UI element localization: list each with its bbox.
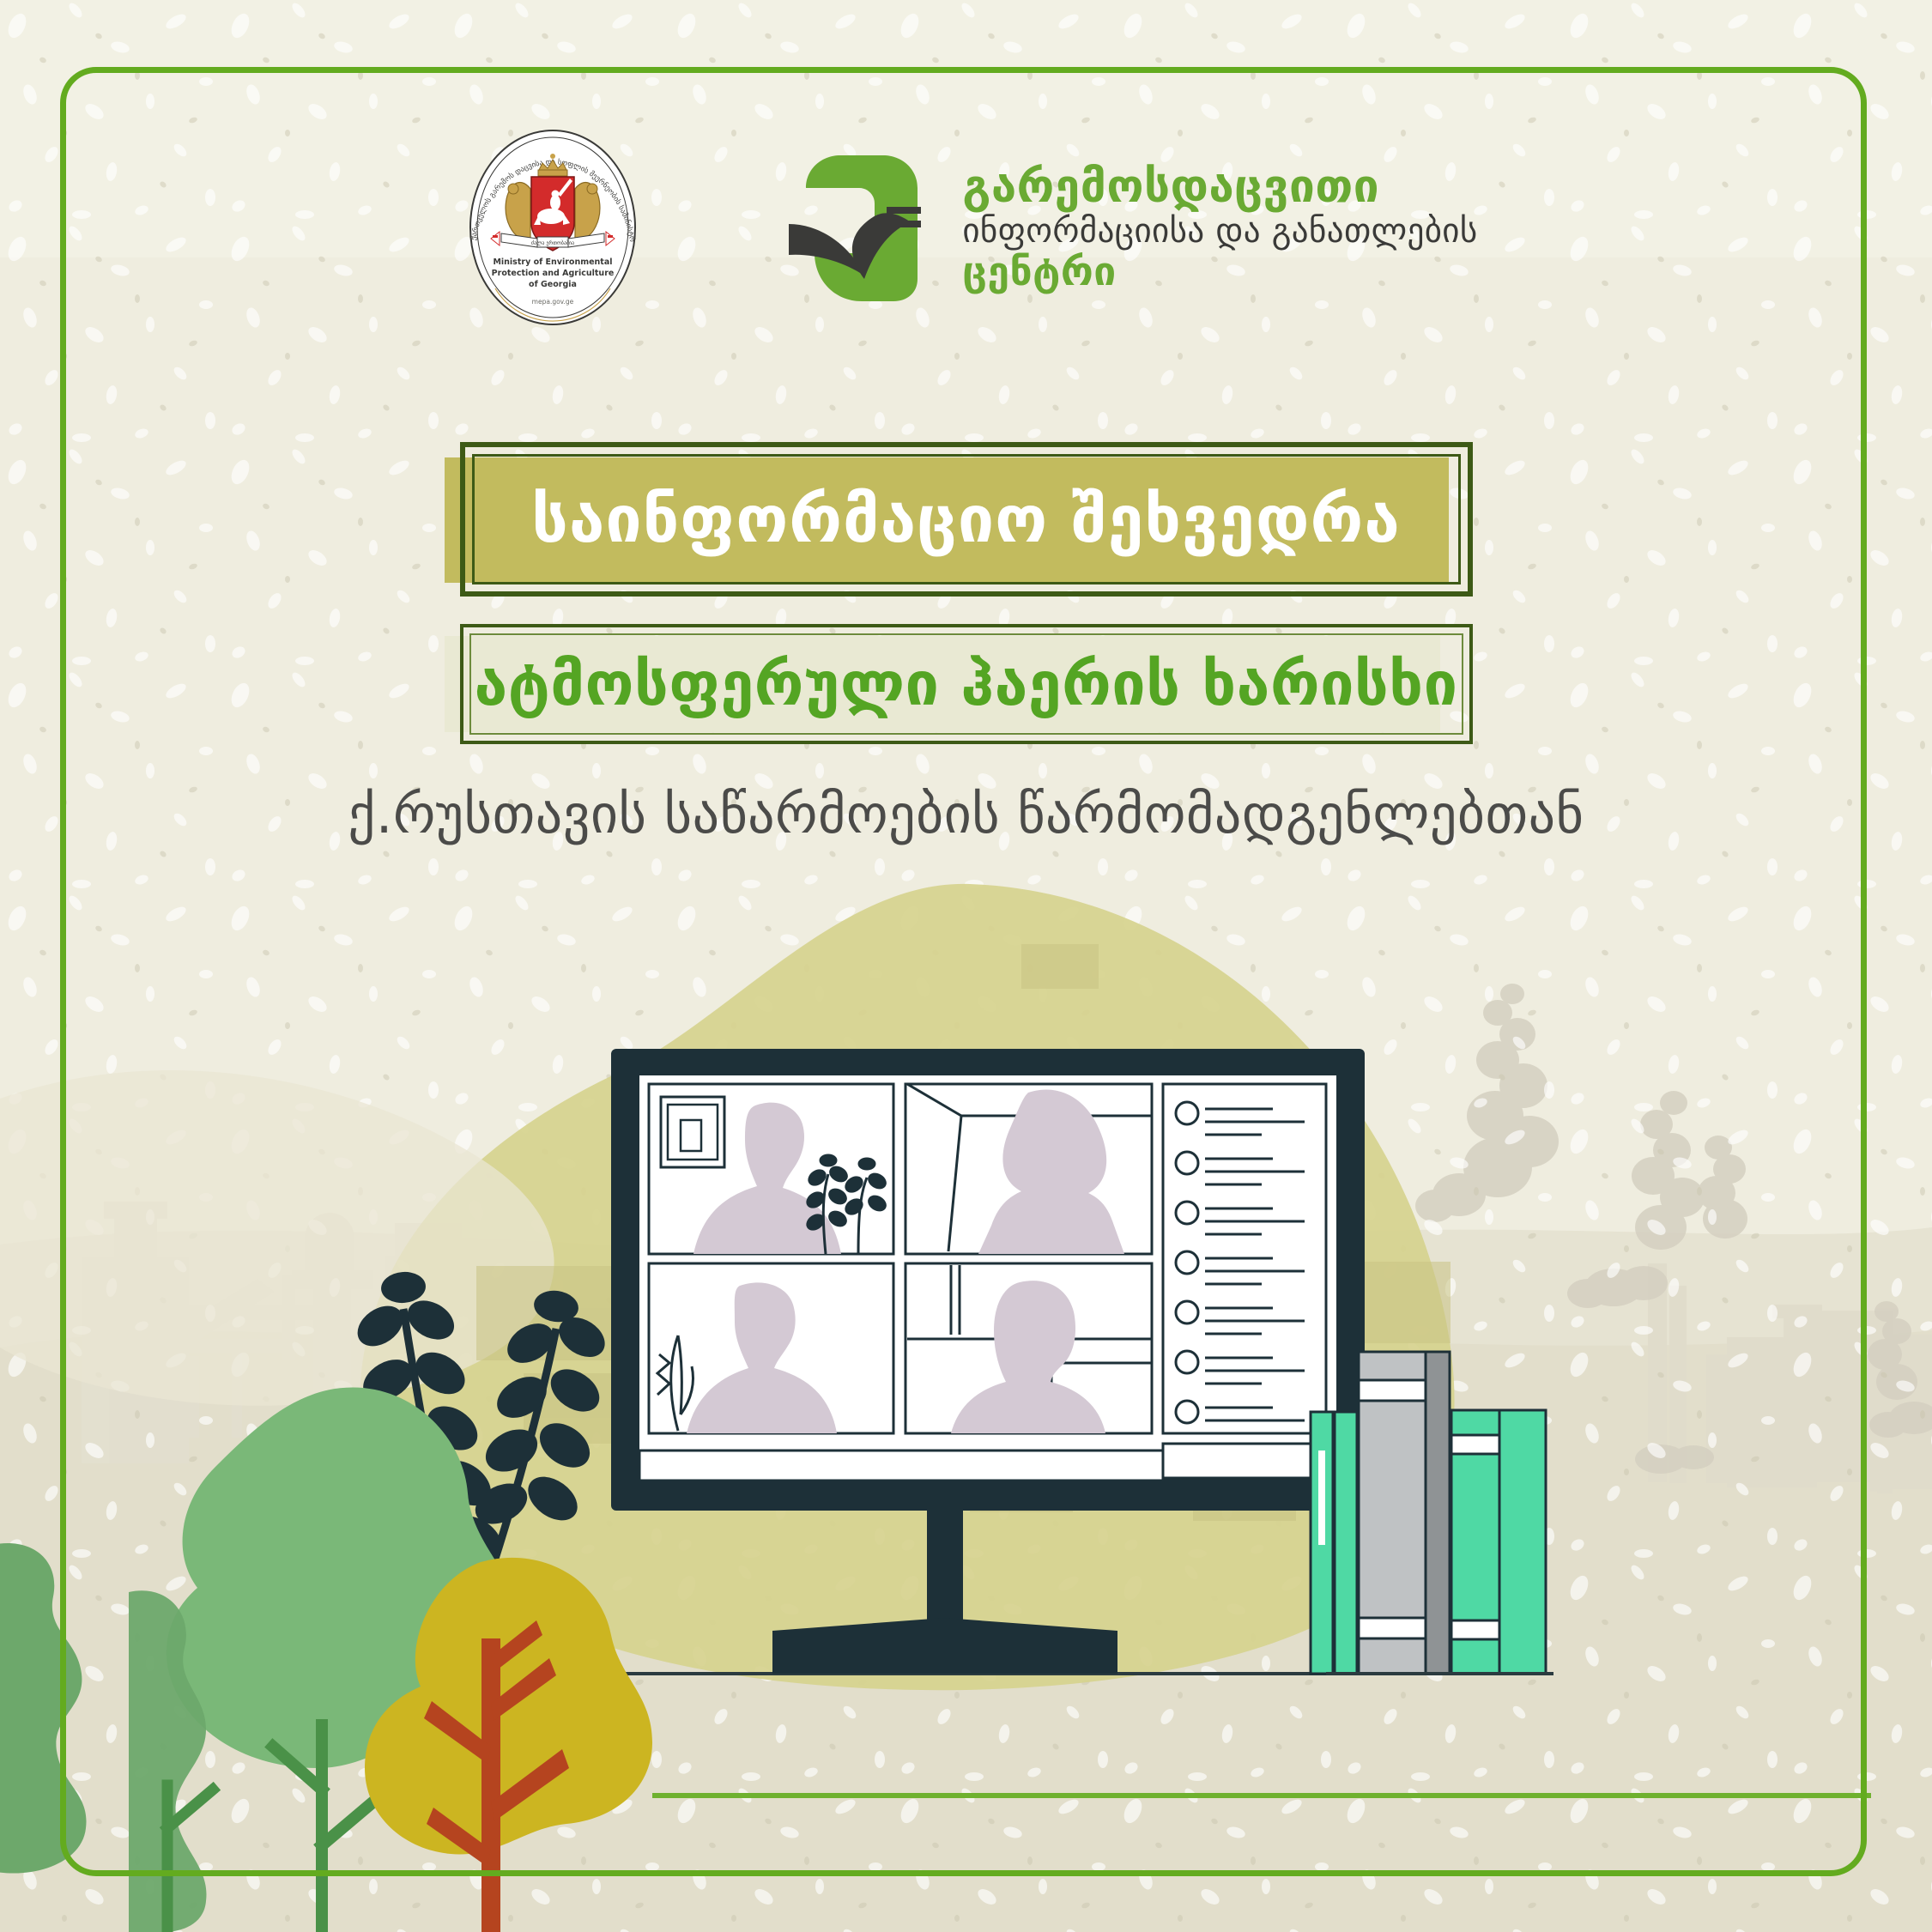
secondary-banner-inner-border: ატმოსფერული ჰაერის ხარისხი bbox=[469, 633, 1463, 735]
primary-title-text: საინფორმაციო შეხვედრა bbox=[531, 481, 1400, 557]
header-logos: საქართველოს გარემოს დაცვისა და სოფლის მე… bbox=[0, 129, 1932, 326]
primary-banner-inner-border: საინფორმაციო შეხვედრა bbox=[472, 454, 1461, 584]
svg-text:Ministry of Environmental: Ministry of Environmental bbox=[494, 257, 613, 267]
svg-text:Protection and Agriculture: Protection and Agriculture bbox=[492, 269, 615, 278]
logo-line-1: გარემოსდაცვითი bbox=[962, 164, 1477, 209]
ministry-seal-icon: საქართველოს გარემოს დაცვისა და სოფლის მე… bbox=[454, 129, 651, 326]
environmental-center-logo-icon bbox=[780, 150, 943, 305]
title-block: საინფორმაციო შეხვედრა ატმოსფერული ჰაერის… bbox=[0, 442, 1932, 845]
primary-title-banner: საინფორმაციო შეხვედრა bbox=[460, 442, 1473, 597]
secondary-title-text: ატმოსფერული ჰაერის ხარისხი bbox=[474, 649, 1457, 719]
subtitle-text: ქ.რუსთავის საწარმოების წარმომადგენლებთან bbox=[348, 783, 1584, 845]
secondary-title-banner: ატმოსფერული ჰაერის ხარისხი bbox=[460, 624, 1473, 744]
primary-banner-outer-border: საინფორმაციო შეხვედრა bbox=[460, 442, 1473, 597]
poster-canvas: საქართველოს გარემოს დაცვისა და სოფლის მე… bbox=[0, 0, 1932, 1932]
secondary-banner-outer-border: ატმოსფერული ჰაერის ხარისხი bbox=[460, 624, 1473, 744]
svg-text:of Georgia: of Georgia bbox=[529, 280, 577, 289]
svg-text:ძალა ერთობაშია: ძალა ერთობაშია bbox=[531, 240, 574, 246]
logo-line-3: ცენტრი bbox=[962, 251, 1477, 291]
svg-text:mepa.gov.ge: mepa.gov.ge bbox=[532, 298, 574, 306]
center-logo: გარემოსდაცვითი ინფორმაციისა და განათლები… bbox=[780, 150, 1477, 305]
logo-line-2: ინფორმაციისა და განათლების bbox=[962, 215, 1477, 248]
